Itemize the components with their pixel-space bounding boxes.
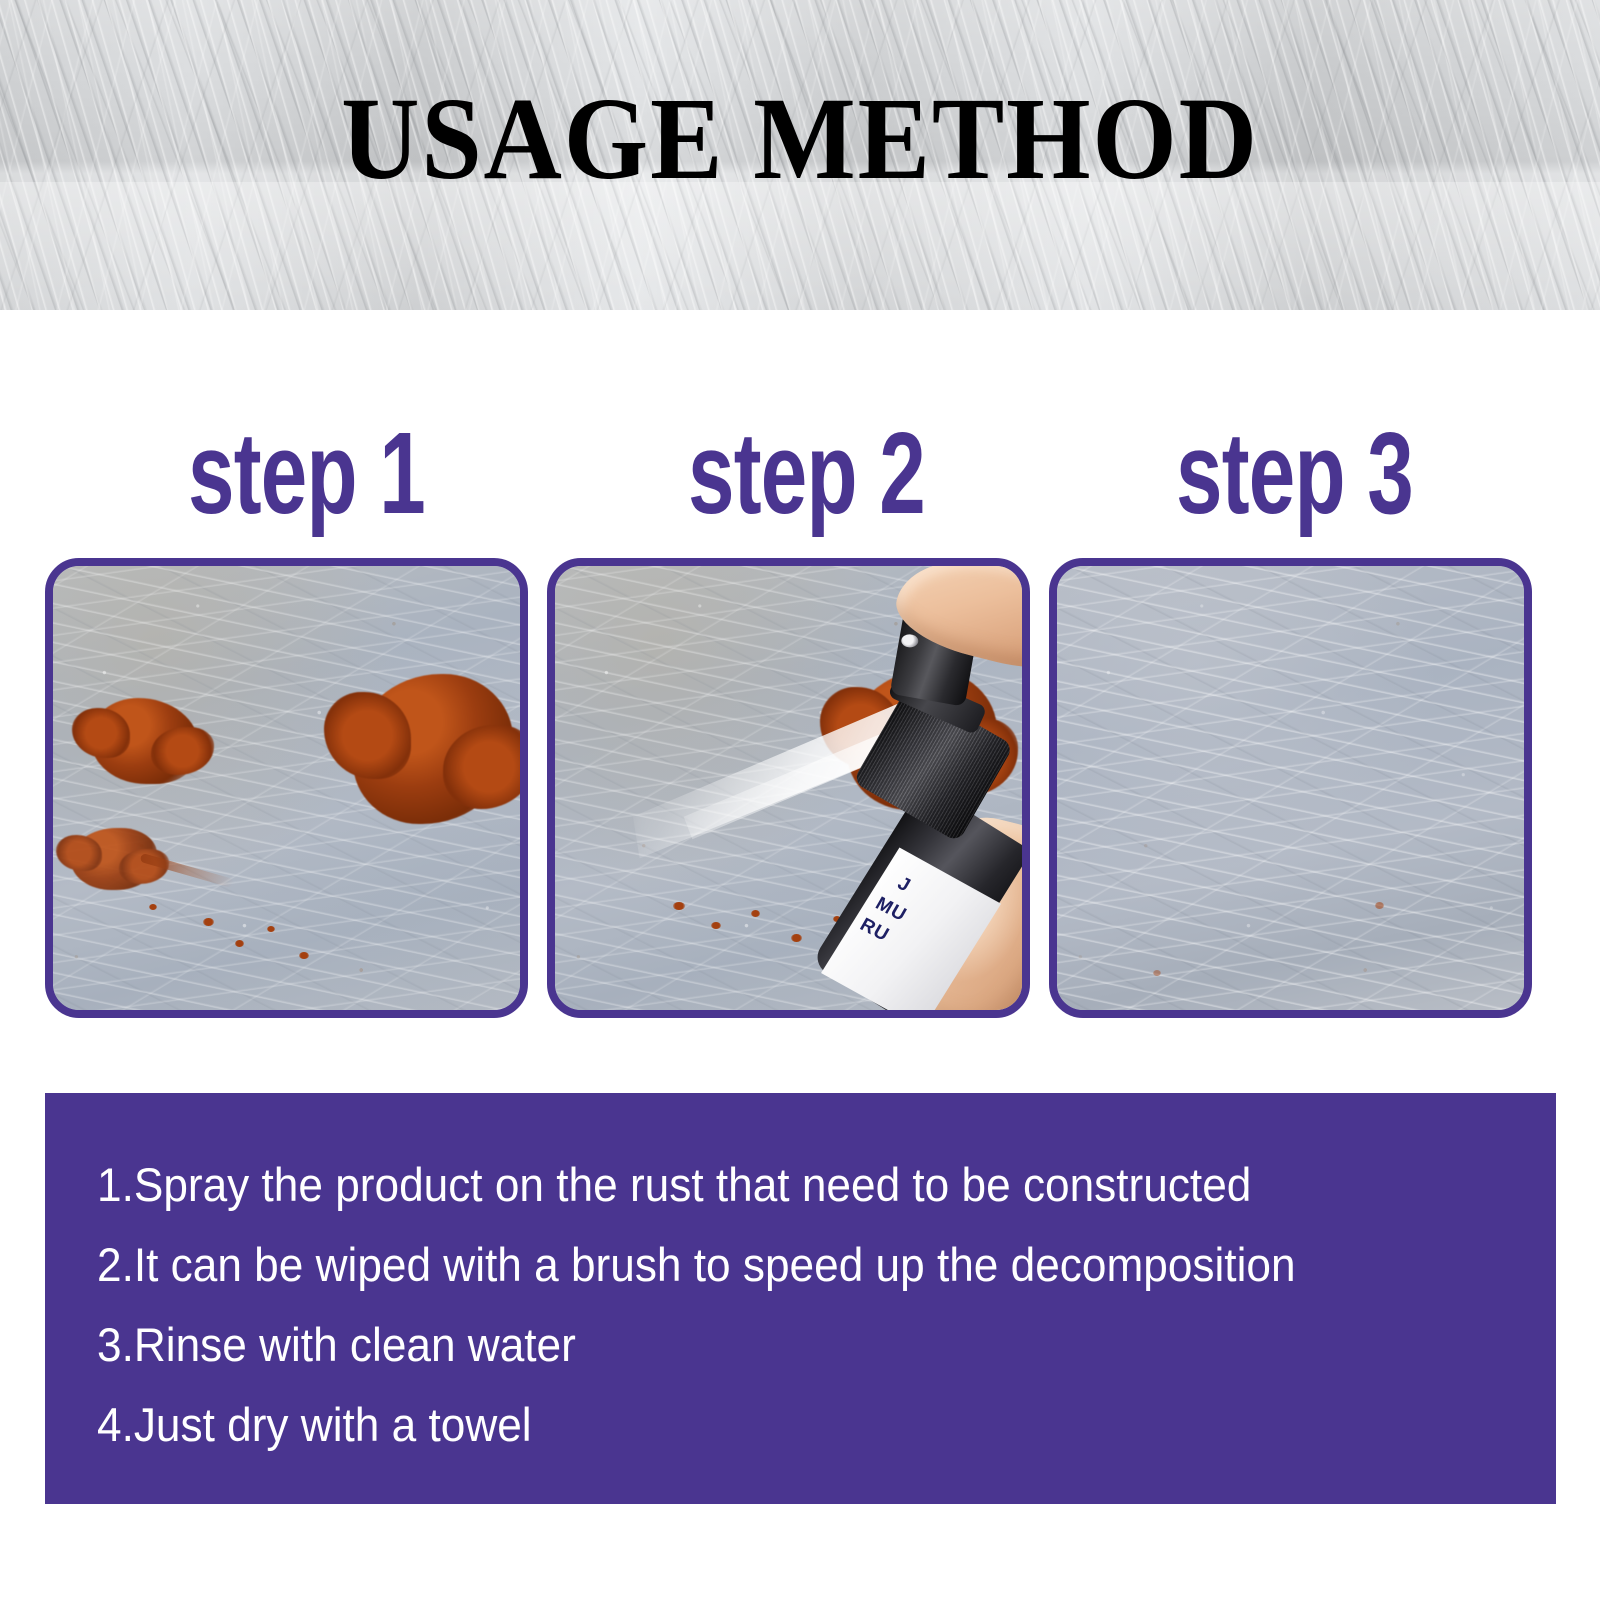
step-labels-row: step 1 step 2 step 3 xyxy=(45,398,1556,548)
instruction-line-1: 1.Spray the product on the rust that nee… xyxy=(97,1145,1468,1225)
step-images-row: J MU RU xyxy=(45,558,1556,1018)
rust-fleck xyxy=(235,940,244,947)
step-1-image-card xyxy=(45,558,528,1018)
step-label-3: step 3 xyxy=(1121,398,1469,548)
instruction-line-2: 2.It can be wiped with a brush to speed … xyxy=(97,1225,1468,1305)
rust-fleck xyxy=(149,904,157,910)
rust-fleck xyxy=(203,918,214,926)
bottle-label-line-1: J xyxy=(893,871,916,898)
step-2-image-card: J MU RU xyxy=(547,558,1030,1018)
step-label-2: step 2 xyxy=(633,398,981,548)
rust-residue-fleck xyxy=(1375,902,1384,909)
step-label-1: step 1 xyxy=(133,398,481,548)
step-3-image-card xyxy=(1049,558,1532,1018)
rust-fleck xyxy=(267,926,275,932)
rust-residue-fleck xyxy=(1153,970,1161,976)
instruction-line-4: 4.Just dry with a towel xyxy=(97,1385,1468,1465)
rust-spot-large-right xyxy=(353,674,513,824)
metal-speckle xyxy=(1057,566,1524,1010)
instructions-panel: 1.Spray the product on the rust that nee… xyxy=(45,1093,1556,1504)
rust-fleck xyxy=(299,952,309,959)
header-banner: USAGE METHOD xyxy=(0,0,1600,310)
rust-fleck xyxy=(751,910,760,917)
rust-fleck xyxy=(711,922,721,929)
page-title: USAGE METHOD xyxy=(64,78,1536,200)
rust-fleck xyxy=(673,902,685,910)
instruction-line-3: 3.Rinse with clean water xyxy=(97,1305,1468,1385)
